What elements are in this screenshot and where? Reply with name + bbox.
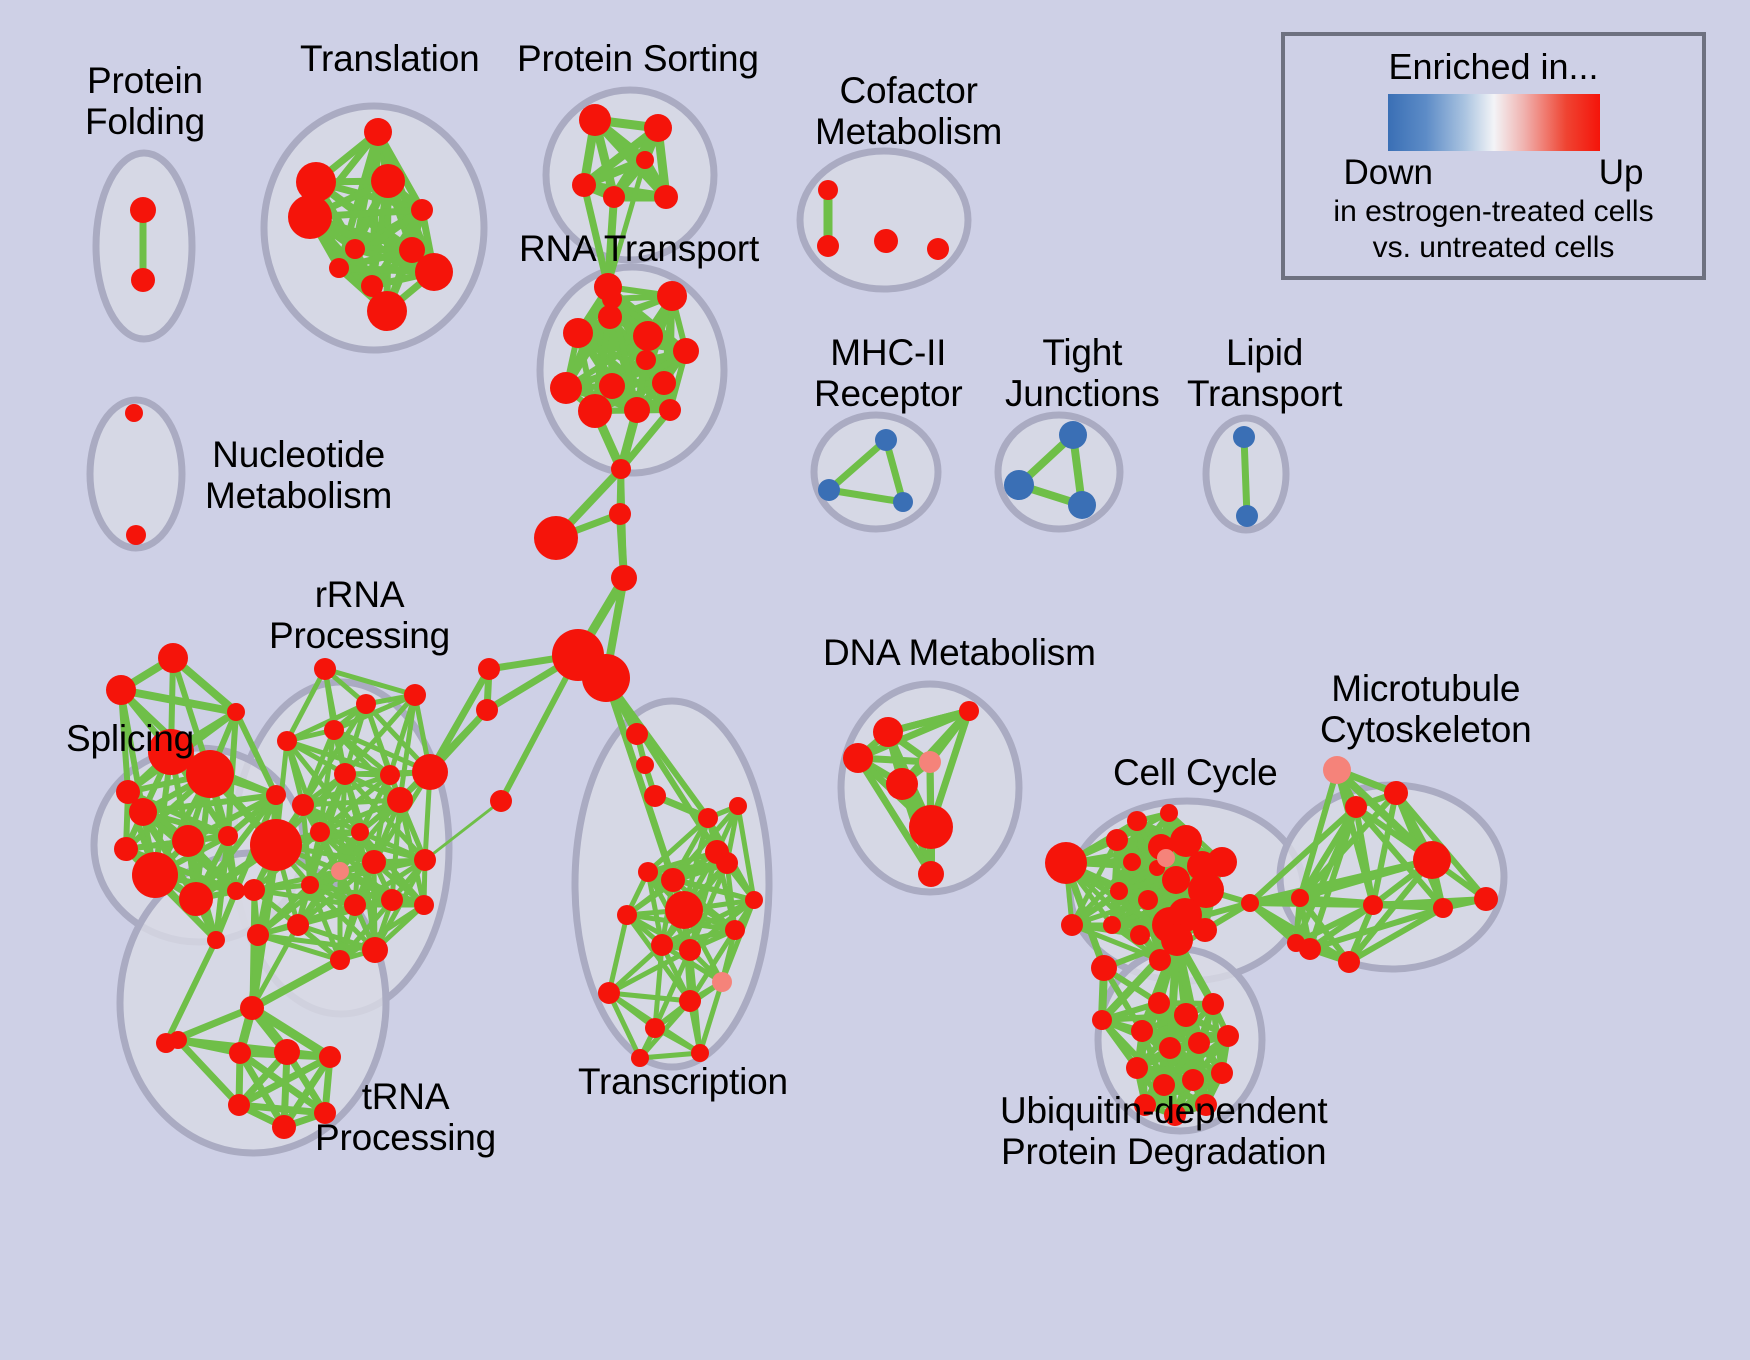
network-node[interactable] — [356, 694, 376, 714]
network-node[interactable] — [602, 289, 622, 309]
network-node[interactable] — [609, 503, 631, 525]
network-node[interactable] — [362, 937, 388, 963]
network-node[interactable] — [1059, 421, 1087, 449]
network-node[interactable] — [1207, 847, 1237, 877]
cluster-label-cell-cycle: Cell Cycle — [1113, 752, 1278, 793]
network-node[interactable] — [132, 852, 178, 898]
cluster-label-protein-sorting: Protein Sorting — [517, 38, 759, 79]
network-node[interactable] — [1287, 934, 1305, 952]
network-node[interactable] — [1160, 804, 1178, 822]
network-node[interactable] — [1004, 470, 1034, 500]
cluster-label-transcription: Transcription — [578, 1061, 788, 1102]
network-node[interactable] — [875, 429, 897, 451]
network-node[interactable] — [1202, 993, 1224, 1015]
network-node[interactable] — [698, 808, 718, 828]
network-node[interactable] — [691, 1044, 709, 1062]
network-node[interactable] — [1126, 1057, 1148, 1079]
network-node[interactable] — [636, 756, 654, 774]
cluster-label-cofactor-metab: Cofactor Metabolism — [815, 70, 1002, 153]
network-node[interactable] — [1182, 1069, 1204, 1091]
network-node[interactable] — [169, 1031, 187, 1049]
network-node[interactable] — [673, 338, 699, 364]
network-node[interactable] — [1148, 992, 1170, 1014]
network-node[interactable] — [207, 931, 225, 949]
cluster-label-rrna-processing: rRNA Processing — [269, 574, 450, 657]
network-node[interactable] — [572, 173, 596, 197]
network-node[interactable] — [344, 894, 366, 916]
network-node[interactable] — [227, 882, 245, 900]
network-node[interactable] — [598, 982, 620, 1004]
legend-endpoints: Down Up — [1344, 153, 1644, 193]
network-node[interactable] — [1211, 1062, 1233, 1084]
network-node[interactable] — [919, 751, 941, 773]
network-node[interactable] — [1413, 841, 1451, 879]
network-node[interactable] — [745, 891, 763, 909]
network-node[interactable] — [1363, 895, 1383, 915]
network-node[interactable] — [579, 104, 611, 136]
network-node[interactable] — [324, 720, 344, 740]
network-node[interactable] — [287, 914, 309, 936]
network-node[interactable] — [1474, 887, 1498, 911]
network-node[interactable] — [1161, 924, 1193, 956]
network-node[interactable] — [1193, 918, 1217, 942]
network-node[interactable] — [874, 229, 898, 253]
network-node[interactable] — [725, 920, 745, 940]
network-node[interactable] — [1162, 866, 1190, 894]
network-node[interactable] — [1123, 853, 1141, 871]
network-node[interactable] — [301, 876, 319, 894]
network-node[interactable] — [818, 180, 838, 200]
cluster-label-tight-junctions: Tight Junctions — [1005, 332, 1160, 415]
network-node[interactable] — [1174, 1003, 1198, 1027]
network-node[interactable] — [272, 1115, 296, 1139]
network-node[interactable] — [818, 479, 840, 501]
network-node[interactable] — [654, 185, 678, 209]
cluster-label-trna-processing: tRNA Processing — [315, 1076, 496, 1159]
legend-box: Enriched in... Down Up in estrogen-treat… — [1281, 32, 1706, 280]
cluster-label-protein-folding: Protein Folding — [85, 60, 205, 143]
network-node[interactable] — [1061, 914, 1083, 936]
network-edge — [1250, 903, 1373, 905]
network-node[interactable] — [1338, 951, 1360, 973]
network-node[interactable] — [657, 281, 687, 311]
network-node[interactable] — [404, 684, 426, 706]
network-node[interactable] — [927, 238, 949, 260]
network-node[interactable] — [626, 723, 648, 745]
network-node[interactable] — [334, 763, 356, 785]
network-node[interactable] — [1138, 890, 1158, 910]
network-node[interactable] — [645, 1018, 665, 1038]
network-node[interactable] — [158, 643, 188, 673]
network-node[interactable] — [886, 768, 918, 800]
network-node[interactable] — [679, 939, 701, 961]
network-node[interactable] — [843, 743, 873, 773]
cluster-label-splicing: Splicing — [66, 718, 194, 759]
network-node[interactable] — [414, 849, 436, 871]
network-node[interactable] — [1106, 829, 1128, 851]
network-node[interactable] — [1233, 426, 1255, 448]
network-node[interactable] — [893, 492, 913, 512]
network-node[interactable] — [131, 268, 155, 292]
network-node[interactable] — [617, 905, 637, 925]
network-node[interactable] — [381, 889, 403, 911]
network-node[interactable] — [661, 868, 685, 892]
network-node[interactable] — [250, 819, 302, 871]
legend-subtitle-line2: vs. untreated cells — [1373, 231, 1615, 265]
network-node[interactable] — [636, 151, 654, 169]
cluster-label-dna-metabolism: DNA Metabolism — [823, 632, 1096, 673]
network-node[interactable] — [172, 825, 204, 857]
network-node[interactable] — [665, 891, 703, 929]
network-node[interactable] — [652, 371, 676, 395]
network-node[interactable] — [292, 794, 314, 816]
network-node[interactable] — [1384, 781, 1408, 805]
network-node[interactable] — [345, 239, 365, 259]
network-node[interactable] — [1433, 898, 1453, 918]
network-node[interactable] — [651, 934, 673, 956]
network-node[interactable] — [1217, 1025, 1239, 1047]
network-node[interactable] — [240, 996, 264, 1020]
network-node[interactable] — [1241, 894, 1259, 912]
network-node[interactable] — [114, 837, 138, 861]
network-node[interactable] — [1323, 756, 1351, 784]
cluster-label-rna-transport: RNA Transport — [519, 228, 759, 269]
network-node[interactable] — [679, 990, 701, 1012]
network-node[interactable] — [414, 895, 434, 915]
network-node[interactable] — [659, 399, 681, 421]
network-node[interactable] — [1131, 1020, 1153, 1042]
network-edge — [1244, 437, 1247, 516]
network-node[interactable] — [603, 186, 625, 208]
network-node[interactable] — [247, 924, 269, 946]
network-node[interactable] — [415, 253, 453, 291]
cluster-label-mhc-ii-receptor: MHC-II Receptor — [814, 332, 963, 415]
network-node[interactable] — [1188, 1032, 1210, 1054]
network-node[interactable] — [909, 805, 953, 849]
network-node[interactable] — [126, 525, 146, 545]
network-node[interactable] — [314, 658, 336, 680]
cluster-hull-mhc-ii-receptor — [814, 415, 938, 529]
network-node[interactable] — [371, 164, 405, 198]
network-node[interactable] — [716, 852, 738, 874]
network-node[interactable] — [633, 321, 663, 351]
network-node[interactable] — [227, 703, 245, 721]
network-node[interactable] — [266, 785, 286, 805]
network-node[interactable] — [364, 118, 392, 146]
network-node[interactable] — [412, 754, 448, 790]
network-node[interactable] — [873, 717, 903, 747]
network-node[interactable] — [1045, 842, 1087, 884]
network-node[interactable] — [1110, 882, 1128, 900]
network-node[interactable] — [243, 879, 265, 901]
network-node[interactable] — [918, 861, 944, 887]
network-node[interactable] — [636, 350, 656, 370]
network-node[interactable] — [1157, 849, 1175, 867]
network-node[interactable] — [712, 972, 732, 992]
network-node[interactable] — [1291, 889, 1309, 907]
network-node[interactable] — [563, 318, 593, 348]
network-node[interactable] — [624, 397, 650, 423]
network-node[interactable] — [367, 291, 407, 331]
network-node[interactable] — [729, 797, 747, 815]
network-node[interactable] — [319, 1046, 341, 1068]
network-node[interactable] — [288, 195, 332, 239]
network-node[interactable] — [380, 765, 400, 785]
network-node[interactable] — [1236, 505, 1258, 527]
network-node[interactable] — [106, 675, 136, 705]
network-node[interactable] — [125, 404, 143, 422]
network-node[interactable] — [387, 787, 413, 813]
network-node[interactable] — [329, 258, 349, 278]
network-node[interactable] — [228, 1094, 250, 1116]
network-node[interactable] — [582, 654, 630, 702]
network-node[interactable] — [817, 235, 839, 257]
network-node[interactable] — [1068, 491, 1096, 519]
legend-subtitle-line1: in estrogen-treated cells — [1333, 195, 1653, 229]
network-node[interactable] — [229, 1042, 251, 1064]
network-node[interactable] — [534, 516, 578, 560]
network-node[interactable] — [1345, 796, 1367, 818]
network-node[interactable] — [478, 658, 500, 680]
legend-color-bar — [1388, 94, 1600, 151]
network-node[interactable] — [550, 372, 582, 404]
network-node[interactable] — [331, 862, 349, 880]
network-node[interactable] — [578, 394, 612, 428]
legend-down-label: Down — [1344, 153, 1433, 193]
network-node[interactable] — [611, 565, 637, 591]
network-node[interactable] — [644, 114, 672, 142]
cluster-label-lipid-transport: Lipid Transport — [1187, 332, 1342, 415]
network-node[interactable] — [277, 731, 297, 751]
network-node[interactable] — [218, 826, 238, 846]
cluster-label-ubiquitin: Ubiquitin-dependent Protein Degradation — [1000, 1090, 1327, 1173]
network-node[interactable] — [362, 850, 386, 874]
network-node[interactable] — [1130, 925, 1150, 945]
network-node[interactable] — [351, 823, 369, 841]
network-node[interactable] — [179, 882, 213, 916]
network-node[interactable] — [599, 373, 625, 399]
network-node[interactable] — [1127, 811, 1147, 831]
legend-up-label: Up — [1599, 153, 1644, 193]
network-node[interactable] — [1103, 916, 1121, 934]
network-node[interactable] — [1092, 1010, 1112, 1030]
cluster-label-microtubule: Microtubule Cytoskeleton — [1320, 668, 1532, 751]
network-node[interactable] — [411, 199, 433, 221]
network-node[interactable] — [611, 459, 631, 479]
network-node[interactable] — [959, 701, 979, 721]
cluster-label-nucleotide-metab: Nucleotide Metabolism — [205, 434, 392, 517]
network-node[interactable] — [330, 950, 350, 970]
network-node[interactable] — [644, 785, 666, 807]
network-node[interactable] — [1159, 1037, 1181, 1059]
network-node[interactable] — [476, 699, 498, 721]
legend-title: Enriched in... — [1388, 46, 1598, 88]
network-node[interactable] — [274, 1039, 300, 1065]
network-node[interactable] — [310, 822, 330, 842]
network-node[interactable] — [1091, 955, 1117, 981]
network-node[interactable] — [490, 790, 512, 812]
network-node[interactable] — [116, 780, 140, 804]
network-node[interactable] — [638, 862, 658, 882]
network-figure: Protein FoldingTranslationProtein Sortin… — [0, 0, 1750, 1360]
network-node[interactable] — [130, 197, 156, 223]
cluster-label-translation: Translation — [300, 38, 479, 79]
